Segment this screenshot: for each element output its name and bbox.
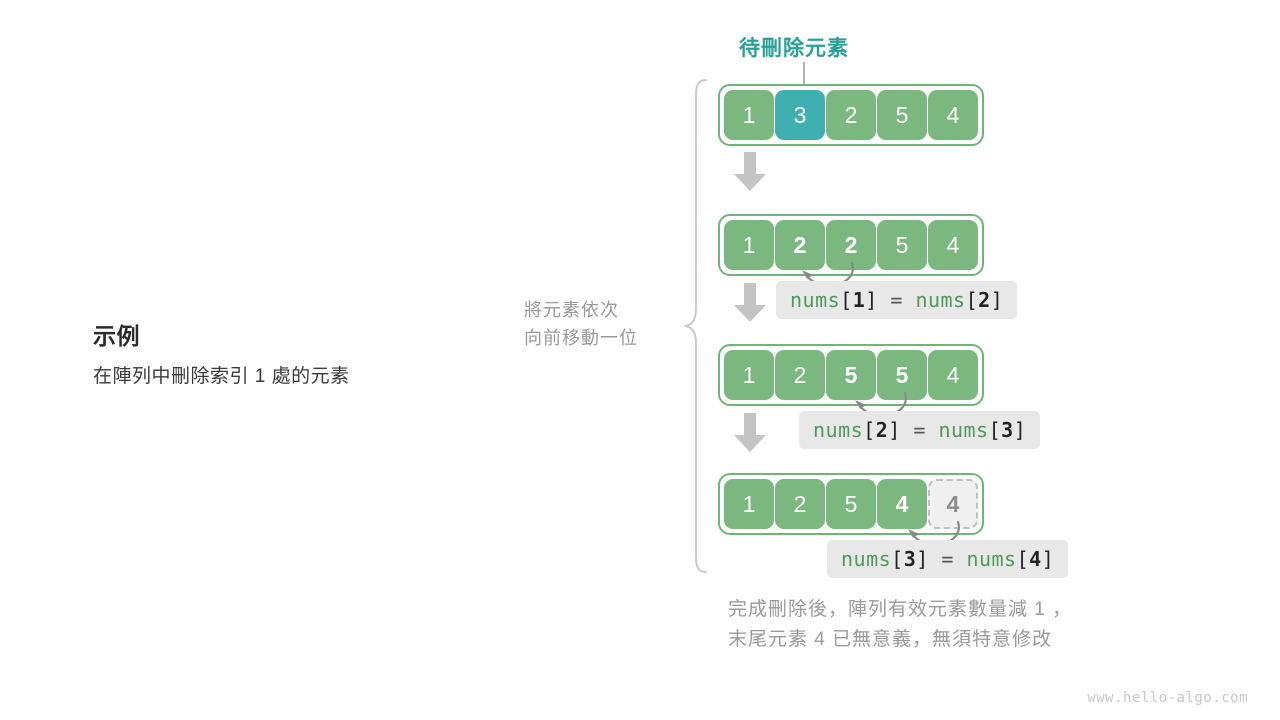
code-bracket-open: [ — [989, 418, 1002, 442]
code-index-dest: 3 — [904, 547, 917, 571]
array-cell: 1 — [724, 350, 774, 400]
shift-caption: 將元素依次 向前移動一位 — [524, 297, 674, 353]
array-step-1: 12254 — [718, 214, 984, 276]
watermark: www.hello-algo.com — [1087, 690, 1248, 706]
page-title: 示例 — [93, 322, 493, 351]
code-index-src: 2 — [978, 288, 991, 312]
code-index-src: 4 — [1029, 547, 1042, 571]
result-note: 完成刪除後，陣列有效元素數量減 1 ， 末尾元素 4 已無意義，無須特意修改 — [728, 595, 1072, 656]
array-cell: 2 — [775, 350, 825, 400]
array-cell: 5 — [877, 220, 927, 270]
leader-line — [803, 62, 805, 92]
code-identifier: nums — [938, 418, 988, 442]
code-index-dest: 1 — [853, 288, 866, 312]
array-cell: 5 — [826, 479, 876, 529]
shift-caption-line-1: 將元素依次 — [524, 297, 674, 325]
array-cell: 2 — [775, 479, 825, 529]
example-description-block: 示例 在陣列中刪除索引 1 處的元素 — [93, 322, 493, 389]
down-arrow-icon — [733, 413, 767, 453]
array-cell: 4 — [928, 90, 978, 140]
code-bracket-open: [ — [863, 418, 876, 442]
assignment-3-4: nums[3] = nums[4] — [827, 540, 1068, 578]
code-bracket-open: [ — [1017, 547, 1030, 571]
down-arrow-icon — [733, 152, 767, 192]
code-operator: = — [878, 288, 916, 312]
code-identifier: nums — [915, 288, 965, 312]
array-cell: 2 — [775, 220, 825, 270]
move-arrow-icon — [902, 521, 968, 549]
array-step-2: 12554 — [718, 344, 984, 406]
code-identifier: nums — [841, 547, 891, 571]
array-cell: 2 — [826, 220, 876, 270]
code-operator: = — [901, 418, 939, 442]
array-cell: 4 — [928, 220, 978, 270]
code-bracket-close: ] — [865, 288, 878, 312]
array-cell: 1 — [724, 90, 774, 140]
array-initial: 13254 — [718, 84, 984, 146]
code-identifier: nums — [813, 418, 863, 442]
array-cell: 2 — [826, 90, 876, 140]
code-bracket-close: ] — [916, 547, 929, 571]
array-cell: 5 — [877, 350, 927, 400]
array-cell: 1 — [724, 479, 774, 529]
shift-caption-line-2: 向前移動一位 — [524, 325, 674, 353]
example-subtitle: 在陣列中刪除索引 1 處的元素 — [93, 364, 493, 390]
array-cell: 4 — [877, 479, 927, 529]
code-bracket-close: ] — [991, 288, 1004, 312]
array-cell: 4 — [928, 350, 978, 400]
code-bracket-close: ] — [1042, 547, 1055, 571]
assignment-2-3: nums[2] = nums[3] — [799, 411, 1040, 449]
code-bracket-close: ] — [1014, 418, 1027, 442]
assignment-1-2: nums[1] = nums[2] — [776, 281, 1017, 319]
result-note-line-1: 完成刪除後，陣列有效元素數量減 1 ， — [728, 595, 1072, 625]
code-bracket-open: [ — [840, 288, 853, 312]
code-index-dest: 2 — [876, 418, 889, 442]
move-arrow-icon — [796, 262, 862, 290]
grouping-brace — [684, 78, 710, 574]
array-step-3: 12544 — [718, 473, 984, 535]
array-cell: 5 — [826, 350, 876, 400]
code-identifier: nums — [790, 288, 840, 312]
array-cell: 1 — [724, 220, 774, 270]
code-identifier: nums — [966, 547, 1016, 571]
code-index-src: 3 — [1001, 418, 1014, 442]
delete-target-label: 待刪除元素 — [739, 32, 849, 62]
move-arrow-icon — [849, 392, 915, 420]
code-operator: = — [929, 547, 967, 571]
array-cell: 3 — [775, 90, 825, 140]
code-bracket-open: [ — [891, 547, 904, 571]
code-bracket-close: ] — [888, 418, 901, 442]
result-note-line-2: 末尾元素 4 已無意義，無須特意修改 — [728, 625, 1072, 655]
down-arrow-icon — [733, 283, 767, 323]
array-cell: 5 — [877, 90, 927, 140]
array-cell: 4 — [928, 479, 978, 529]
code-bracket-open: [ — [966, 288, 979, 312]
